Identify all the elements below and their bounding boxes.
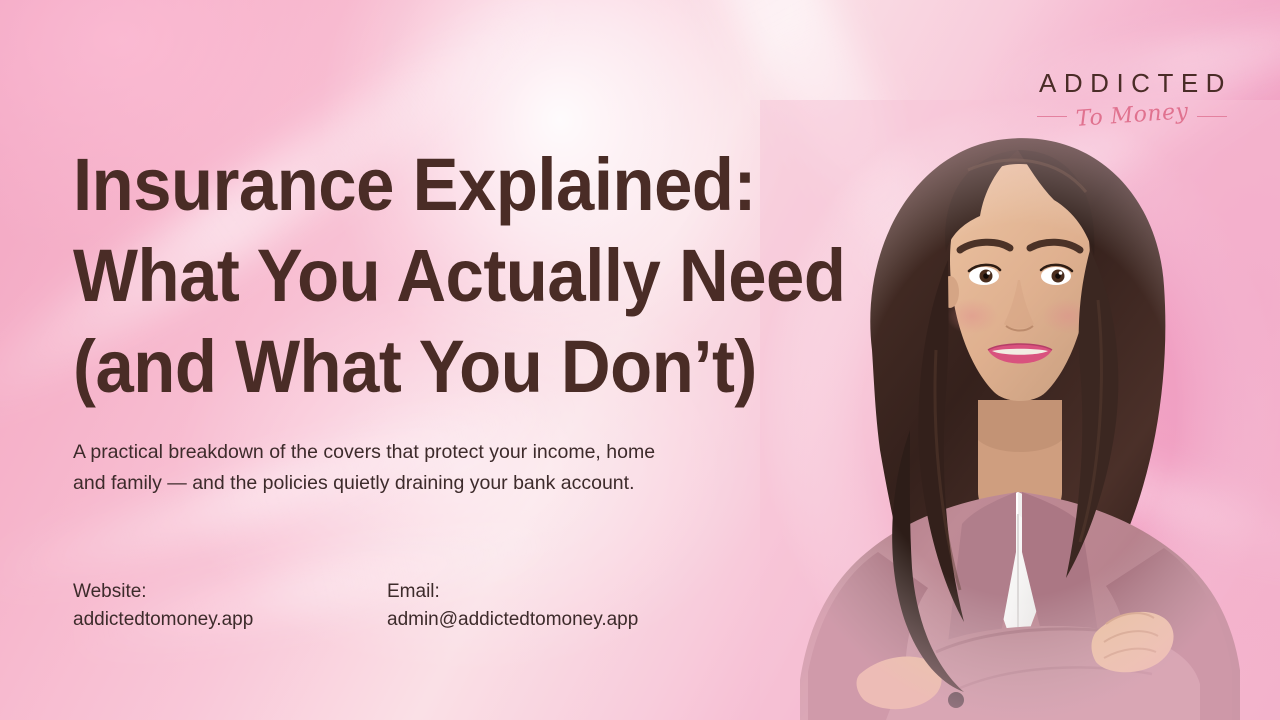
slide-canvas: ADDICTED To Money Insurance Explained: W… [0,0,1280,720]
contact-block: Website: addictedtomoney.app Email: admi… [73,578,638,634]
contact-email: Email: admin@addictedtomoney.app [387,578,638,634]
headline-line-2: What You Actually Need [73,230,845,321]
subtitle: A practical breakdown of the covers that… [73,437,673,499]
website-value[interactable]: addictedtomoney.app [73,606,387,634]
headline-line-3: (and What You Don’t) [73,321,845,412]
contact-website: Website: addictedtomoney.app [73,578,387,634]
copy-block: Insurance Explained: What You Actually N… [73,0,873,720]
brand-logo[interactable]: ADDICTED To Money [1020,70,1244,127]
headline-line-1: Insurance Explained: [73,139,845,230]
logo-rule-left [1037,116,1067,117]
brand-tagline-row: To Money [1020,105,1244,127]
brand-tagline: To Money [1075,101,1189,131]
page-title: Insurance Explained: What You Actually N… [73,139,845,412]
email-value[interactable]: admin@addictedtomoney.app [387,606,638,634]
brand-wordmark: ADDICTED [1020,70,1244,96]
website-label: Website: [73,578,387,606]
email-label: Email: [387,578,638,606]
logo-rule-right [1197,116,1227,117]
